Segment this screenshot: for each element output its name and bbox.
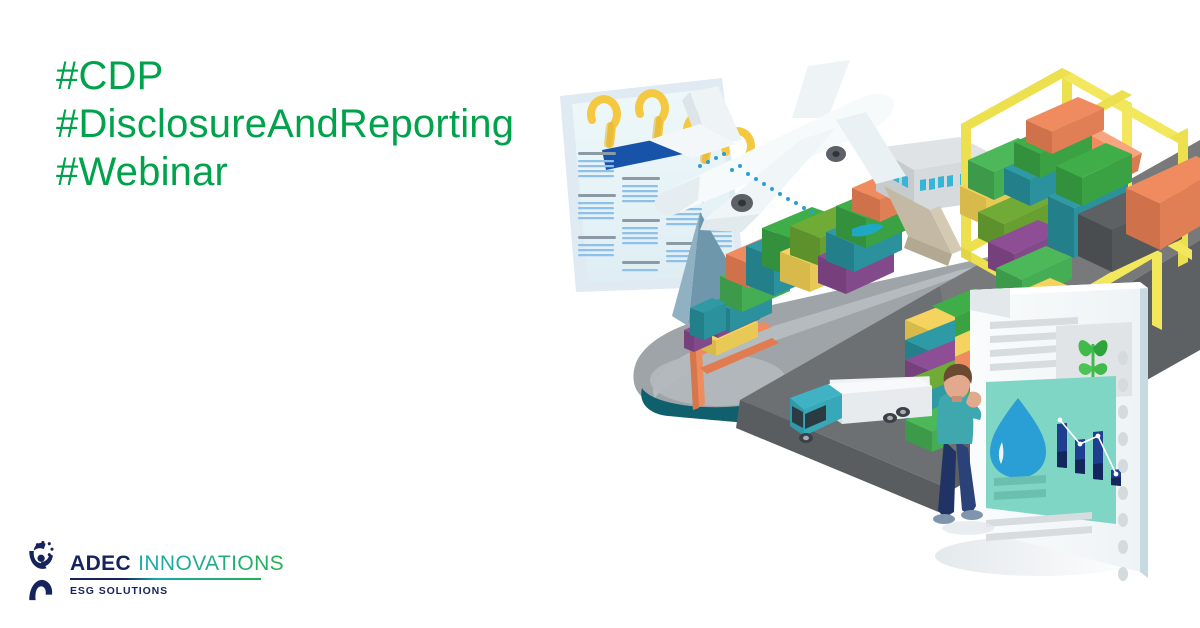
page-title: #CDP #DisclosureAndReporting #Webinar [56, 52, 514, 196]
logo-brand-primary: ADEC [70, 552, 131, 576]
semi-truck-icon [790, 376, 932, 628]
webinar-promo-banner: #CDP #DisclosureAndReporting #Webinar AD… [0, 0, 1200, 628]
metrics-card [986, 376, 1121, 524]
hashtag-line-2: #DisclosureAndReporting [56, 100, 514, 148]
poster-binding-holes [1118, 351, 1128, 581]
adec-innovations-logo: ADEC INNOVATIONS ESG SOLUTIONS [22, 540, 284, 602]
adec-person-star-mark-icon [22, 540, 62, 602]
logo-tagline: ESG SOLUTIONS [70, 585, 284, 597]
hashtag-line-1: #CDP [56, 52, 514, 100]
logo-underline-rule [70, 578, 261, 580]
hashtag-line-3: #Webinar [56, 148, 514, 196]
logo-brand-secondary: INNOVATIONS [138, 552, 284, 576]
